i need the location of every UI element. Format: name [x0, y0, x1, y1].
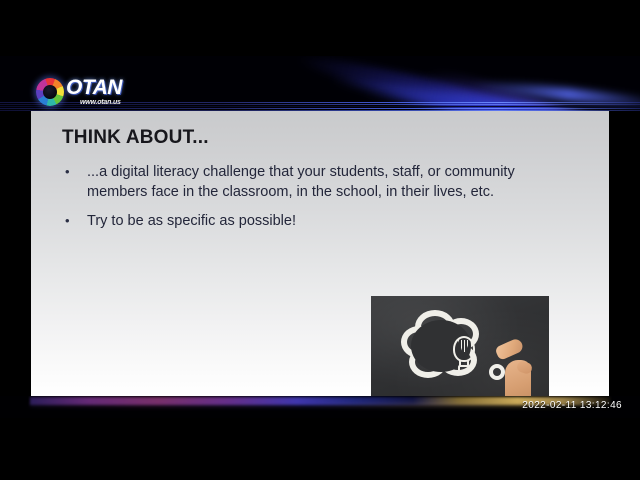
- thought-bubble-icon: [399, 310, 483, 382]
- star-icon: ✶: [47, 89, 53, 95]
- chalkboard-image: [371, 296, 549, 408]
- slide-content-area: THINK ABOUT... • ...a digital literacy c…: [31, 111, 609, 396]
- list-item-text: Try to be as specific as possible!: [87, 211, 296, 231]
- screen-root: ✶ OTAN www.otan.us THINK ABOUT... • ...a…: [0, 0, 640, 480]
- logo-text-group: OTAN www.otan.us: [66, 78, 122, 107]
- logo-wordmark: OTAN: [66, 78, 122, 98]
- list-item: • ...a digital literacy challenge that y…: [61, 162, 581, 202]
- slide-bottom-banner: 2022-02-11 13:12:46: [0, 396, 640, 418]
- bullet-list: • ...a digital literacy challenge that y…: [61, 162, 581, 240]
- bullet-marker-icon: •: [61, 211, 87, 231]
- video-player-frame[interactable]: ✶ OTAN www.otan.us THINK ABOUT... • ...a…: [0, 56, 640, 418]
- bullet-marker-icon: •: [61, 162, 87, 182]
- list-item-text: ...a digital literacy challenge that you…: [87, 162, 553, 202]
- page-title: THINK ABOUT...: [62, 127, 209, 149]
- slide-top-banner: ✶ OTAN www.otan.us: [0, 56, 640, 111]
- lightbulb-icon: [450, 336, 478, 378]
- globe-icon: ✶: [36, 78, 64, 106]
- otan-logo[interactable]: ✶ OTAN www.otan.us: [36, 75, 146, 109]
- timestamp-overlay: 2022-02-11 13:12:46: [522, 400, 622, 411]
- logo-url: www.otan.us: [80, 98, 121, 107]
- list-item: • Try to be as specific as possible!: [61, 211, 581, 231]
